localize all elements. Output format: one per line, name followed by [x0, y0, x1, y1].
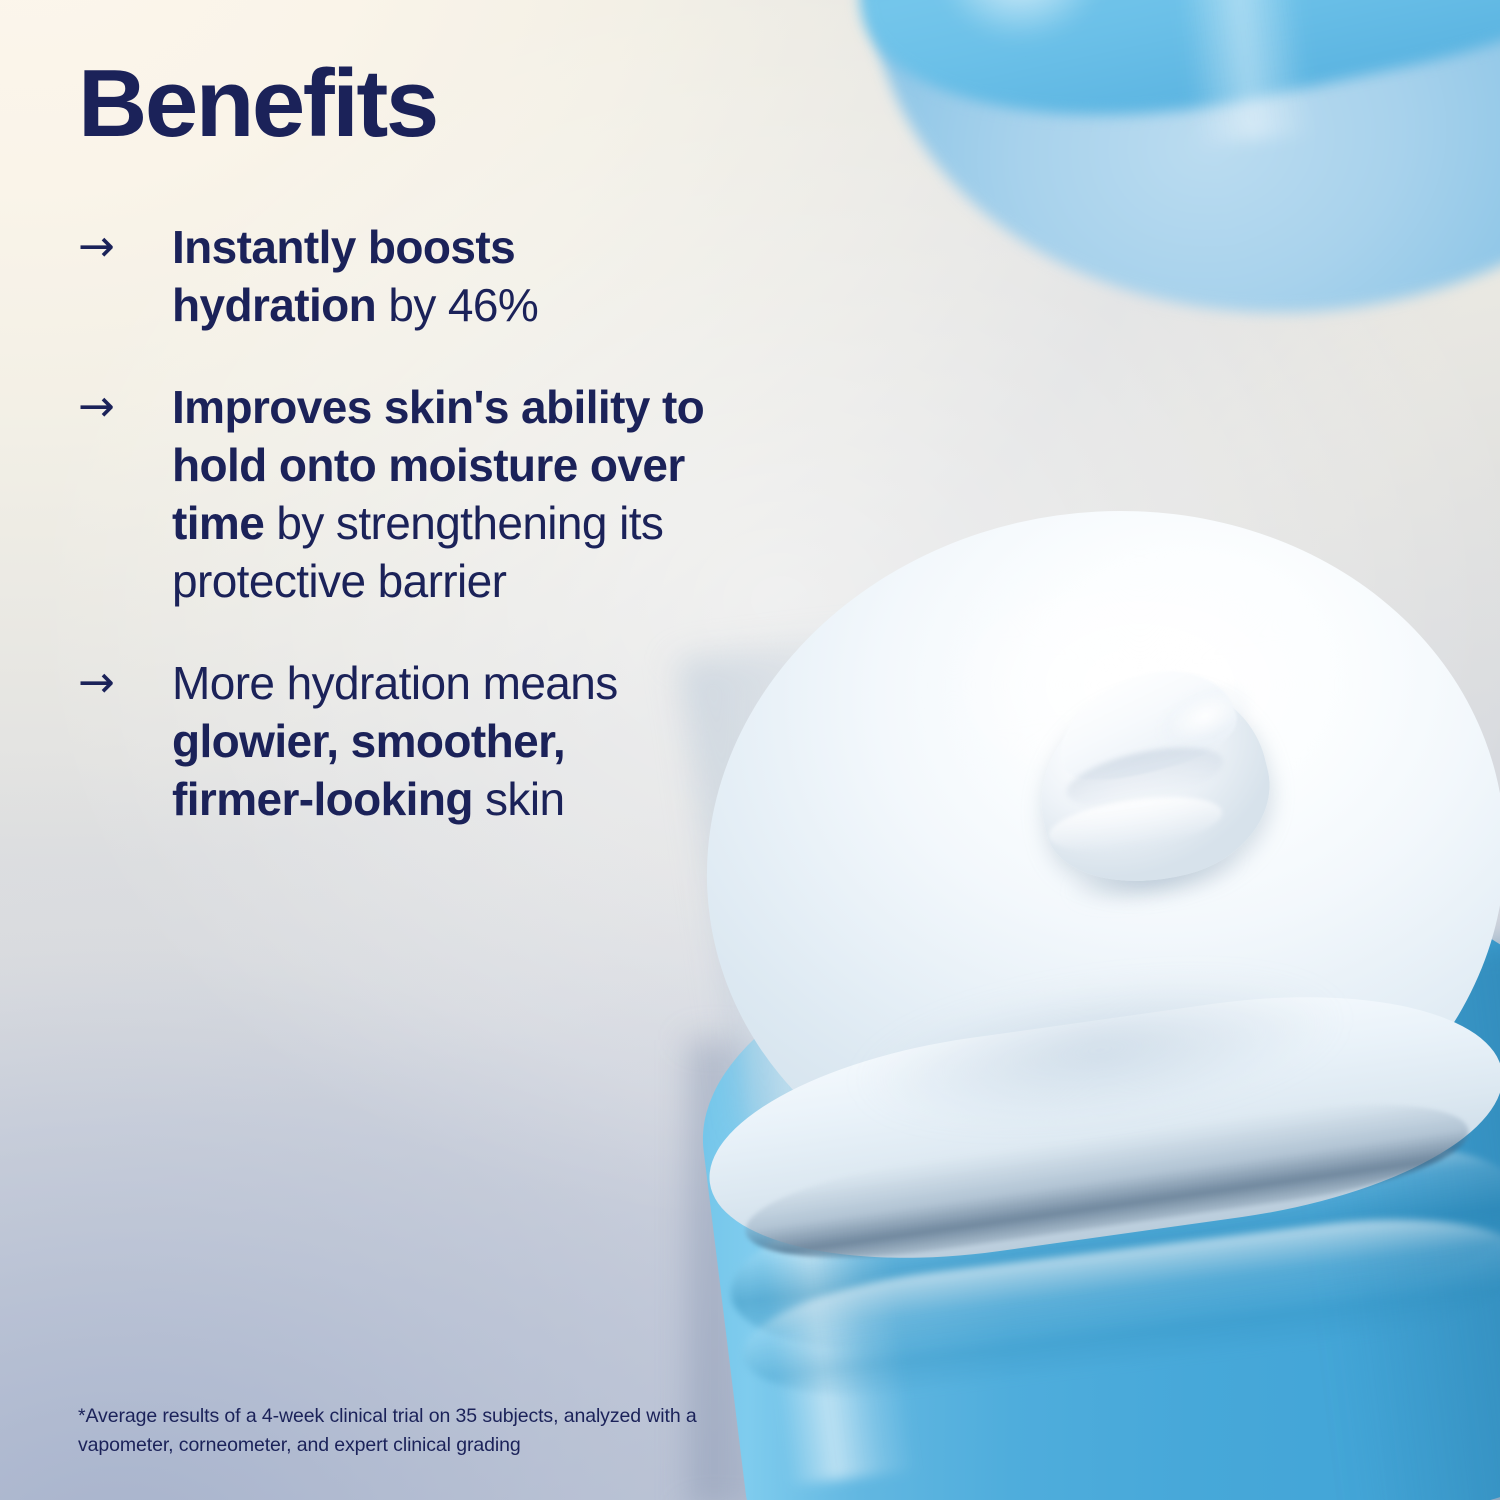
benefits-list: → Instantly boosts hydration by 46% → Im… [78, 218, 718, 828]
page-title: Benefits [78, 56, 437, 152]
footnote-disclaimer: *Average results of a 4-week clinical tr… [78, 1402, 778, 1460]
arrow-right-icon: → [78, 218, 172, 276]
benefit-text-2: Improves skin's ability to hold onto moi… [172, 378, 718, 610]
list-item: → Instantly boosts hydration by 46% [78, 218, 718, 334]
benefit-text-1: Instantly boosts hydration by 46% [172, 218, 718, 334]
benefit-text-3-regular-lead: More hydration means [172, 657, 618, 709]
list-item: → Improves skin's ability to hold onto m… [78, 378, 718, 610]
arrow-right-icon: → [78, 378, 172, 436]
benefit-text-1-regular: by 46% [376, 279, 538, 331]
list-item: → More hydration means glowier, smoother… [78, 654, 718, 828]
product-benefits-graphic: Benefits → Instantly boosts hydration by… [0, 0, 1500, 1500]
arrow-right-icon: → [78, 654, 172, 712]
benefit-text-3-regular-tail: skin [473, 773, 565, 825]
text-content: Benefits → Instantly boosts hydration by… [0, 0, 1500, 1500]
benefit-text-3: More hydration means glowier, smoother, … [172, 654, 718, 828]
